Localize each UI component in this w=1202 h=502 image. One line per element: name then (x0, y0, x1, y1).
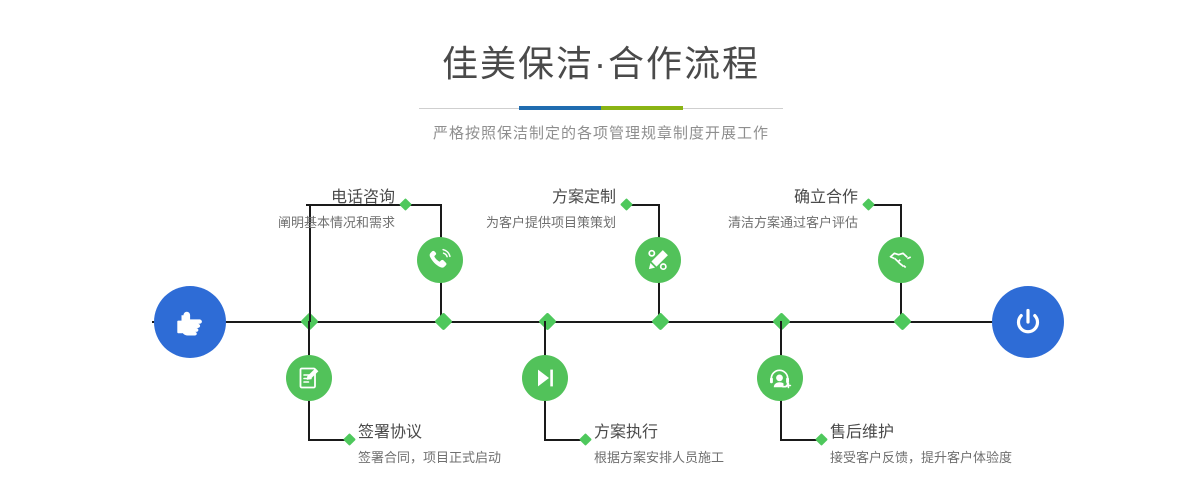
axis-marker-4 (651, 312, 669, 330)
step-title-3: 方案定制 (380, 188, 616, 208)
step-label-2: 签署协议 签署合同，项目正式启动 (358, 423, 618, 468)
pencil-design-icon (645, 247, 671, 273)
label-tip-5 (862, 198, 875, 211)
step-label-5: 确立合作 清洁方案通过客户评估 (620, 188, 858, 233)
step-icon-2[interactable] (286, 355, 332, 401)
play-execute-icon (532, 365, 558, 391)
step-icon-6[interactable] (757, 355, 803, 401)
axis-marker-3 (538, 312, 556, 330)
handshake-icon (887, 246, 915, 274)
step-subtitle-5: 清洁方案通过客户评估 (620, 208, 858, 233)
step-icon-1[interactable] (417, 237, 463, 283)
step-subtitle-6: 接受客户反馈，提升客户体验度 (830, 443, 1130, 468)
support-headset-icon (767, 365, 793, 391)
label-tip-2 (343, 433, 356, 446)
flowchart-page: 佳美保洁·合作流程 严格按照保洁制定的各项管理规章制度开展工作 (0, 0, 1202, 502)
connector-horizontal-6 (780, 439, 820, 441)
step-label-4: 方案执行 根据方案安排人员施工 (594, 423, 844, 468)
step-icon-5[interactable] (878, 237, 924, 283)
step-label-1: 电话咨询 阐明基本情况和需求 (150, 188, 395, 233)
step-subtitle-4: 根据方案安排人员施工 (594, 443, 844, 468)
phone-call-icon (426, 246, 454, 274)
step-icon-3[interactable] (635, 237, 681, 283)
pointing-hand-icon (170, 302, 210, 342)
timeline-axis (152, 321, 1050, 323)
step-label-6: 售后维护 接受客户反馈，提升客户体验度 (830, 423, 1130, 468)
axis-marker-6 (893, 312, 911, 330)
step-title-6: 售后维护 (830, 423, 1130, 443)
step-title-5: 确立合作 (620, 188, 858, 208)
step-icon-4[interactable] (522, 355, 568, 401)
flow-end-endpoint[interactable] (992, 286, 1064, 358)
power-icon (1008, 302, 1048, 342)
connector-horizontal-4 (544, 439, 584, 441)
step-subtitle-3: 为客户提供项目策策划 (380, 208, 616, 233)
step-subtitle-1: 阐明基本情况和需求 (150, 208, 395, 233)
connector-horizontal-2 (308, 439, 348, 441)
process-flow-diagram: 电话咨询 阐明基本情况和需求 签署协议 签署合同，项目正式启动 (0, 0, 1202, 502)
step-label-3: 方案定制 为客户提供项目策策划 (380, 188, 616, 233)
step-subtitle-2: 签署合同，项目正式启动 (358, 443, 618, 468)
axis-marker-2 (434, 312, 452, 330)
flow-start-endpoint[interactable] (154, 286, 226, 358)
document-sign-icon (296, 365, 322, 391)
step-title-1: 电话咨询 (150, 188, 395, 208)
